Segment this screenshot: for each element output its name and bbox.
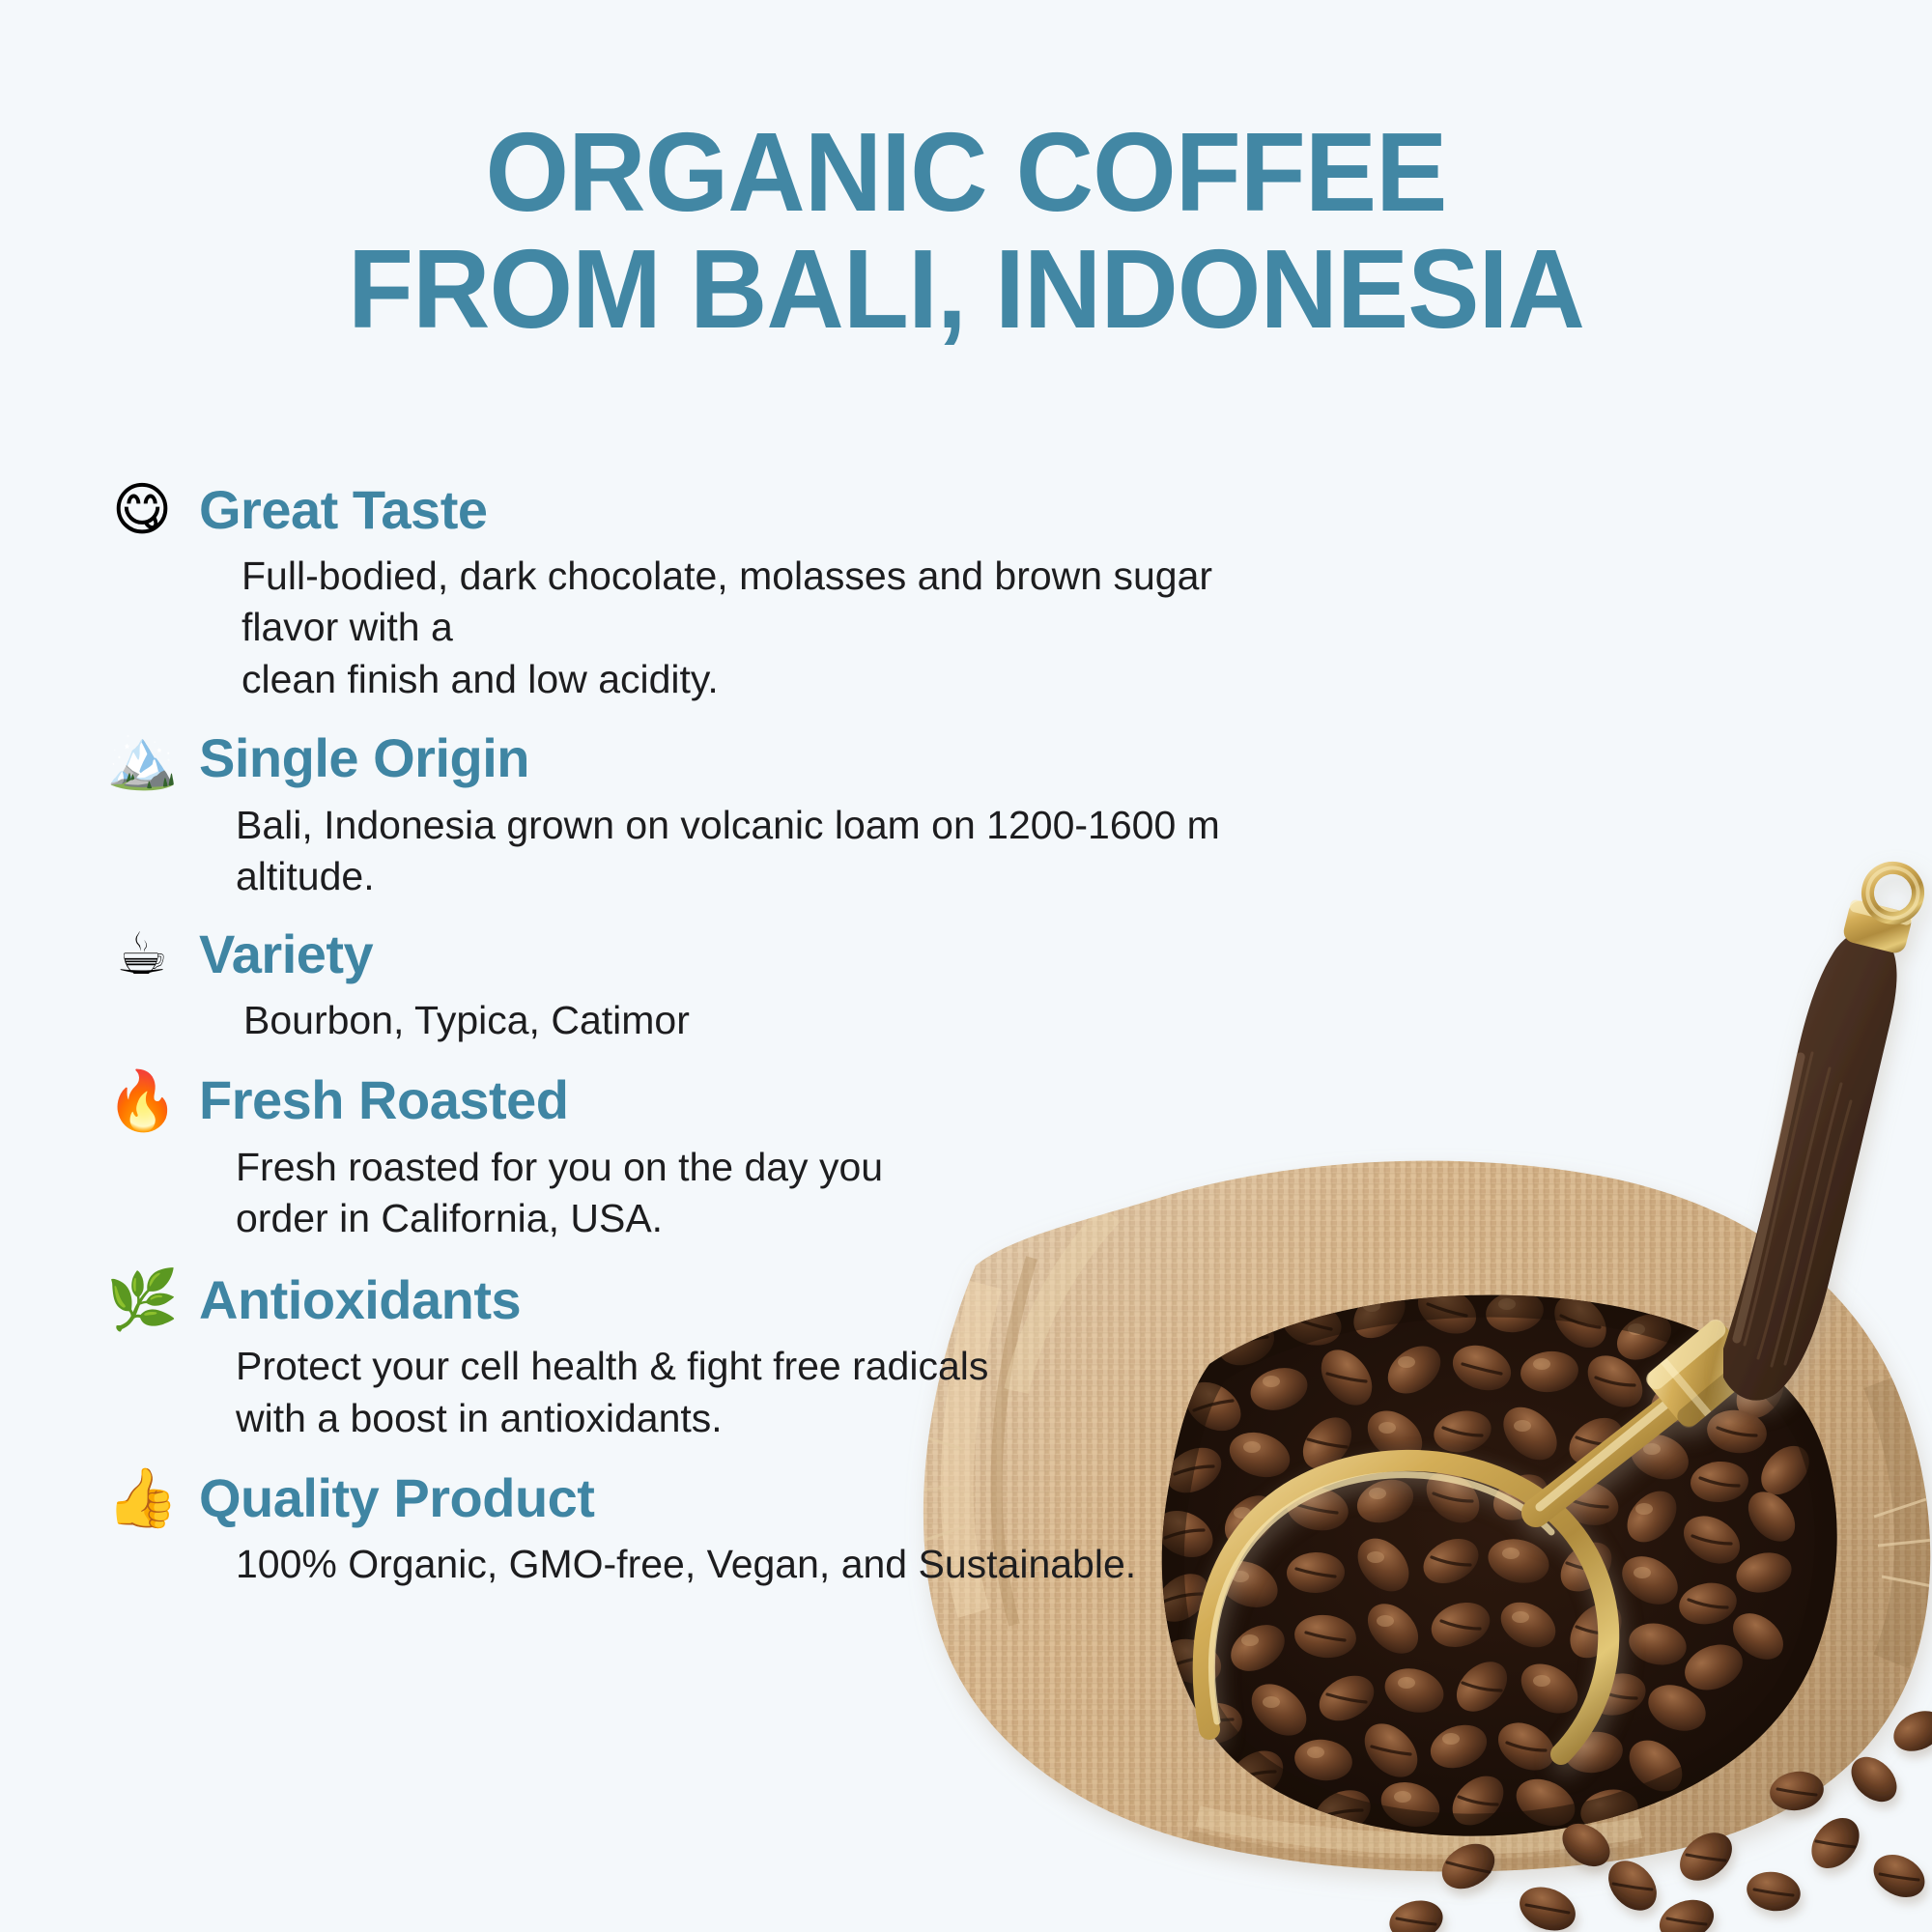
feature-header: 🔥 Fresh Roasted	[106, 1072, 1265, 1130]
feature-item-great-taste: 😋 Great Taste Full-bodied, dark chocolat…	[106, 481, 1265, 705]
feature-title: Quality Product	[199, 1470, 594, 1527]
feature-item-single-origin: 🏔️ Single Origin Bali, Indonesia grown o…	[106, 730, 1265, 903]
feature-header: 👍 Quality Product	[106, 1469, 1265, 1527]
feature-description: Protect your cell health & fight free ra…	[236, 1341, 1105, 1444]
feature-header: ☕ Variety	[106, 925, 1265, 983]
feature-title: Antioxidants	[199, 1272, 521, 1329]
herb-icon: 🌿	[106, 1271, 178, 1329]
feature-title: Single Origin	[199, 730, 529, 787]
page-title: ORGANIC COFFEE FROM BALI, INDONESIA	[0, 114, 1932, 347]
feature-item-antioxidants: 🌿 Antioxidants Protect your cell health …	[106, 1271, 1265, 1444]
promo-graphic: ORGANIC COFFEE FROM BALI, INDONESIA	[0, 0, 1932, 1932]
feature-title: Great Taste	[199, 482, 487, 539]
fire-icon: 🔥	[106, 1072, 178, 1130]
feature-description: Bali, Indonesia grown on volcanic loam o…	[236, 800, 1265, 903]
feature-item-quality-product: 👍 Quality Product 100% Organic, GMO-free…	[106, 1469, 1265, 1590]
face-savoring-food-icon: 😋	[106, 481, 178, 539]
thumbs-up-icon: 👍	[106, 1469, 178, 1527]
hot-beverage-icon: ☕	[106, 925, 178, 983]
feature-description: Full-bodied, dark chocolate, molasses an…	[241, 551, 1265, 705]
feature-header: 🌿 Antioxidants	[106, 1271, 1265, 1329]
feature-list: 😋 Great Taste Full-bodied, dark chocolat…	[106, 481, 1265, 1590]
feature-description: Fresh roasted for you on the day you ord…	[236, 1142, 1009, 1245]
feature-item-fresh-roasted: 🔥 Fresh Roasted Fresh roasted for you on…	[106, 1072, 1265, 1245]
snow-capped-mountain-icon: 🏔️	[106, 730, 178, 788]
title-line-2: FROM BALI, INDONESIA	[39, 231, 1893, 348]
feature-description: Bourbon, Typica, Catimor	[243, 995, 1265, 1046]
feature-title: Fresh Roasted	[199, 1072, 569, 1129]
feature-header: 🏔️ Single Origin	[106, 730, 1265, 788]
feature-header: 😋 Great Taste	[106, 481, 1265, 539]
feature-title: Variety	[199, 926, 373, 983]
feature-description: 100% Organic, GMO-free, Vegan, and Susta…	[236, 1539, 1265, 1590]
title-line-1: ORGANIC COFFEE	[39, 114, 1893, 231]
feature-item-variety: ☕ Variety Bourbon, Typica, Catimor	[106, 925, 1265, 1046]
